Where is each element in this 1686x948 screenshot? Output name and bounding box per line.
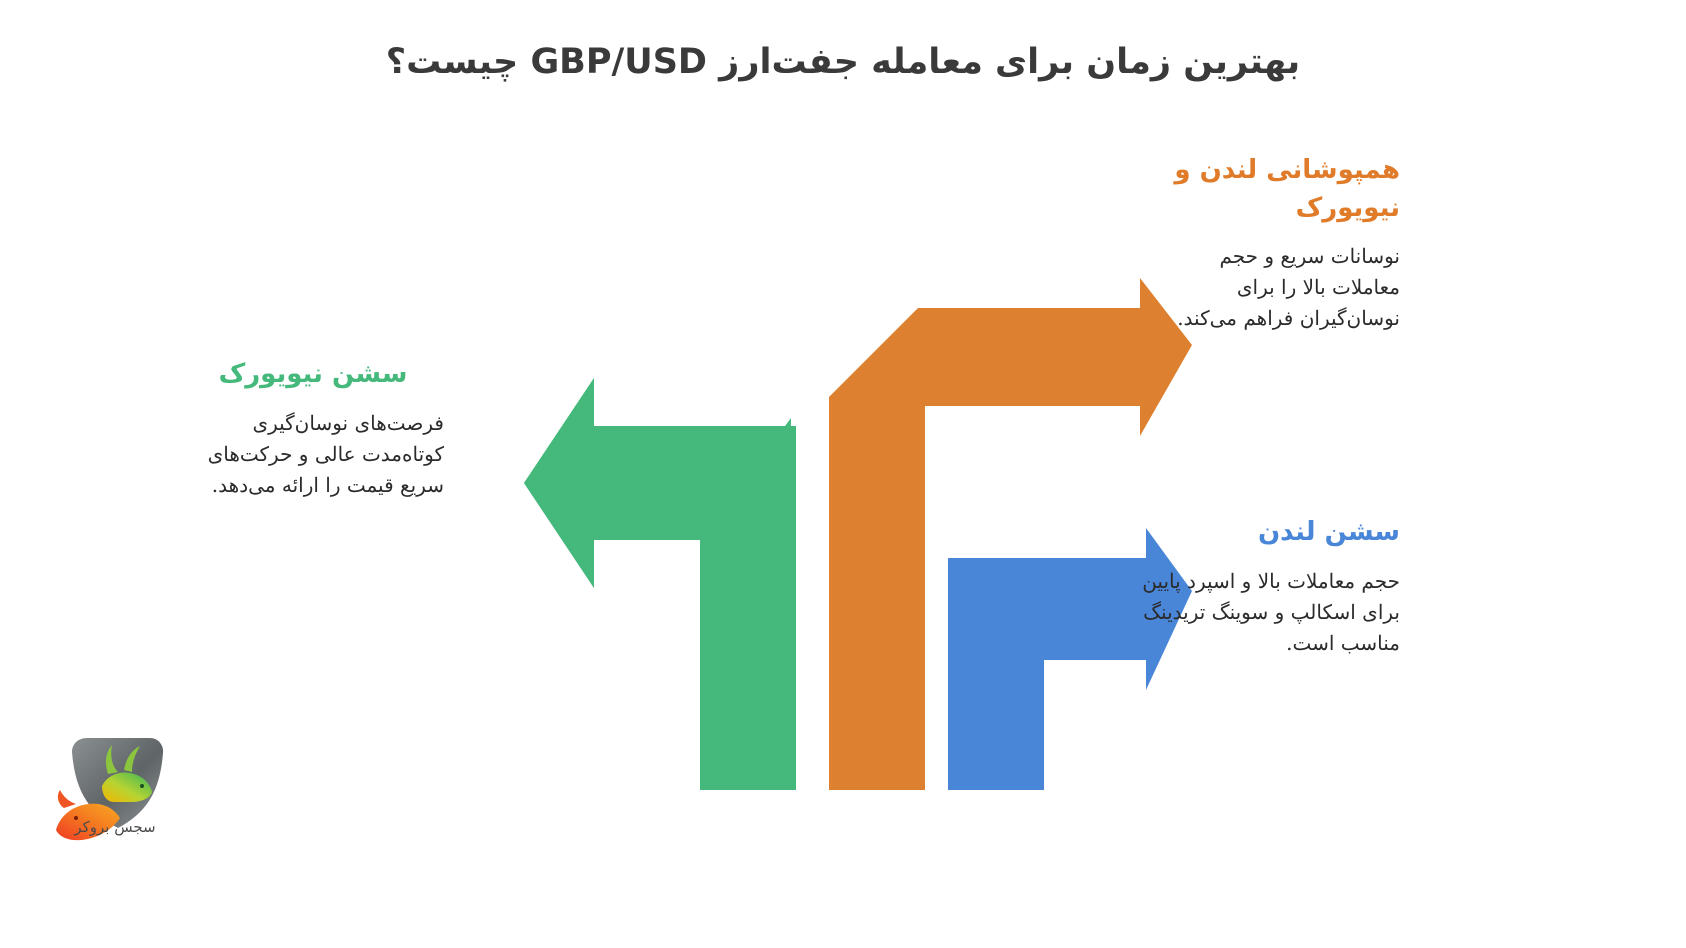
section-overlap-heading: همپوشانی لندن و نیویورک <box>1150 152 1400 227</box>
section-newyork: سشن نیویورک فرصت‌های نوسان‌گیری کوتاه‌مد… <box>182 356 444 501</box>
slide-canvas: بهترین زمان برای معامله جفت‌ارز GBP/USD … <box>0 0 1686 948</box>
section-newyork-heading: سشن نیویورک <box>182 356 444 394</box>
brand-logo-caption: سجس بروکر <box>40 818 190 836</box>
section-london: سشن لندن حجم معاملات بالا و اسپرد پایین … <box>1132 514 1400 659</box>
section-london-body: حجم معاملات بالا و اسپرد پایین برای اسکا… <box>1132 566 1400 659</box>
section-london-heading: سشن لندن <box>1132 514 1400 552</box>
section-overlap: همپوشانی لندن و نیویورک نوسانات سریع و ح… <box>1150 152 1400 334</box>
newyork-arrow-shape <box>524 378 796 790</box>
section-newyork-body: فرصت‌های نوسان‌گیری کوتاه‌مدت عالی و حرک… <box>182 408 444 501</box>
section-overlap-body: نوسانات سریع و حجم معاملات بالا را برای … <box>1150 241 1400 334</box>
